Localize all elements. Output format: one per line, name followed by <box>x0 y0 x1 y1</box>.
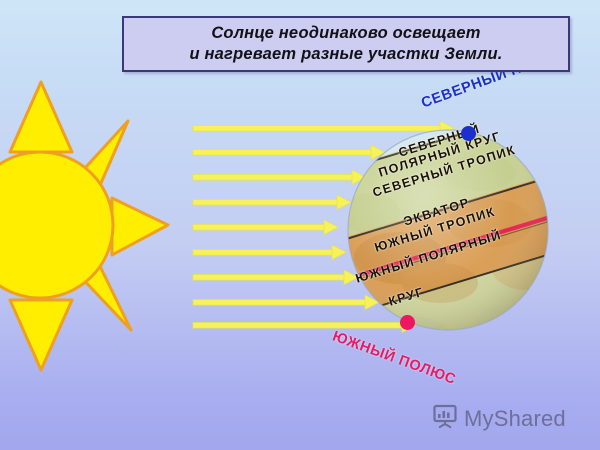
title-line-2: и нагревает разные участки Земли. <box>189 44 502 65</box>
north-pole-dot <box>461 126 476 141</box>
slide-canvas: СЕВЕРНЫЙ ПОЛЯРНЫЙ КРУГ СЕВЕРНЫЙ ТРОПИК Э… <box>0 0 600 450</box>
title-box: Солнце неодинаково освещает и нагревает … <box>122 16 570 72</box>
sun-ray-s <box>10 300 72 370</box>
presentation-board-icon <box>432 403 458 434</box>
sun-ray-e <box>112 198 168 255</box>
south-pole-dot <box>400 315 415 330</box>
myshared-watermark-text: MyShared <box>464 406 566 432</box>
title-line-1: Солнце неодинаково освещает <box>211 23 480 44</box>
ray-arrow-6 <box>193 245 346 260</box>
ray-arrow-5 <box>193 220 338 235</box>
ray-arrow-4 <box>193 195 351 210</box>
sun-ray-n <box>10 82 72 152</box>
myshared-watermark: MyShared <box>432 403 566 434</box>
sun <box>0 80 200 380</box>
